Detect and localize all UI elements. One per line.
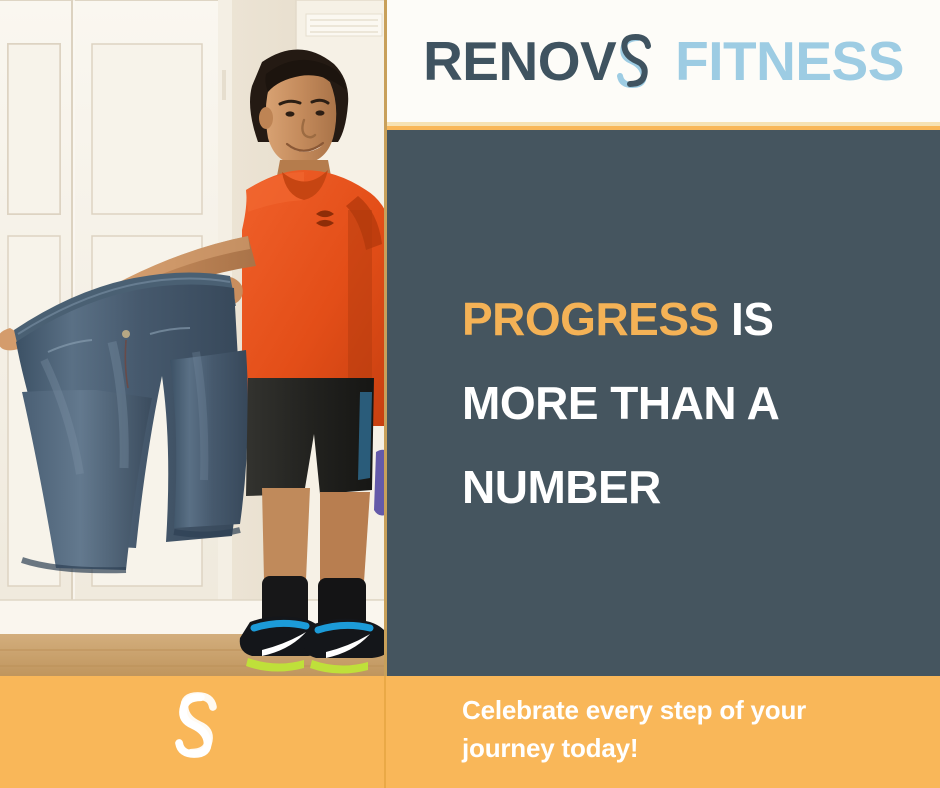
footer-divider xyxy=(384,676,386,788)
fitness-promo-poster: RENOV FITNESS PROGRESS IS MORE THAN A NU… xyxy=(0,0,940,788)
panel-divider xyxy=(384,0,387,676)
logo-word-fitness: FITNESS xyxy=(675,29,904,93)
headline-line-1: PROGRESS IS xyxy=(462,296,940,342)
transformation-photo xyxy=(0,0,384,676)
brand-logo: RENOV FITNESS xyxy=(423,29,904,93)
infinity-eight-icon xyxy=(616,32,652,90)
headline-line-3: NUMBER xyxy=(462,464,940,510)
headline-line-2: MORE THAN A xyxy=(462,380,940,426)
logo-word-renov: RENOV xyxy=(423,29,616,93)
footer-infinity-eight-icon xyxy=(168,690,224,760)
headline-accent-word: PROGRESS xyxy=(462,293,719,345)
photo-illustration xyxy=(0,0,384,676)
header-underline xyxy=(387,122,940,126)
footer-bar: Celebrate every step of your journey tod… xyxy=(0,676,940,788)
headline-line-1-rest: IS xyxy=(719,293,774,345)
headline-panel: PROGRESS IS MORE THAN A NUMBER xyxy=(387,130,940,676)
footer-caption: Celebrate every step of your journey tod… xyxy=(462,692,902,767)
brand-header: RENOV FITNESS xyxy=(387,0,940,126)
